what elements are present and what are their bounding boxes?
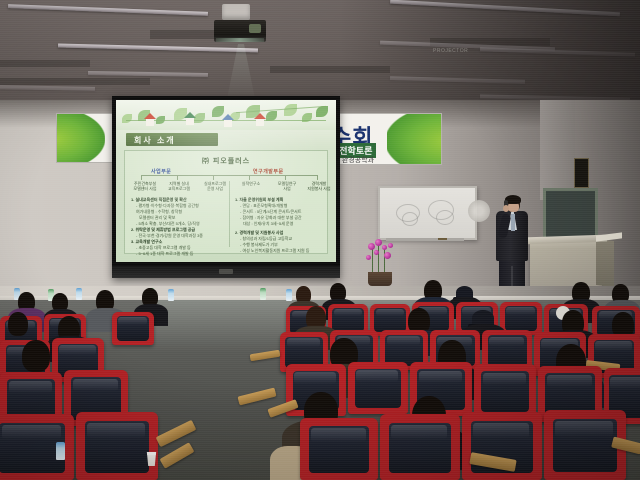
- projector-lens-icon: [249, 24, 261, 33]
- whiteboard-marker: [438, 238, 447, 240]
- slide-left-column: 1. 실내교육센터 직접운영 및 확산 - 평가형·이수형·다과정·복합형 공간…: [131, 197, 227, 257]
- orchid-pot: [368, 272, 392, 286]
- water-bottle: [56, 442, 65, 460]
- slide-body: ㈜ 피오플러스 사업부문 연구개발부문 주민건축부설모델센터 사업 지역별 실내…: [124, 150, 328, 254]
- org-node: 경력개발지원봉사 사업: [297, 181, 336, 192]
- water-bottle: [76, 288, 82, 300]
- whiteboard: [378, 186, 477, 240]
- presentation-slide: 회사 소개 ㈜ 피오플러스 사업부문 연구개발부문 주민건축부설모델센터 사업 …: [116, 100, 336, 262]
- orchid-bloom: [366, 255, 371, 260]
- orchid-bloom: [382, 245, 387, 250]
- auditorium-seat: [474, 364, 536, 418]
- auditorium-seat: [300, 418, 378, 480]
- auditorium-seat: [112, 312, 154, 345]
- slide-company-name: ㈜ 피오플러스: [125, 156, 327, 166]
- orchid-bloom: [368, 243, 375, 250]
- projector-bracket: [222, 4, 250, 20]
- presenter-tie: [511, 214, 515, 231]
- audience-head: [8, 312, 28, 336]
- podium: [530, 240, 602, 288]
- projection-screen: 회사 소개 ㈜ 피오플러스 사업부문 연구개발부문 주민건축부설모델센터 사업 …: [112, 96, 340, 278]
- water-bottle: [260, 288, 266, 300]
- orchid-bloom: [374, 250, 379, 255]
- projector-glow: [216, 38, 264, 42]
- whiteboard-tray: [386, 238, 464, 241]
- ceiling-panel: [0, 60, 90, 67]
- screen-surface: 회사 소개 ㈜ 피오플러스 사업부문 연구개발부문 주민건축부설모델센터 사업 …: [116, 100, 336, 262]
- auditorium-seat: [76, 412, 158, 480]
- auditorium-seat: [348, 362, 408, 414]
- screen-pull-knob: [219, 269, 233, 274]
- slide-right-column: 1. 자율 운영위원회 부설 계획 - 면담 : 표준모형확대/개발형 - 콘서…: [235, 197, 327, 254]
- screen-bottom-bar: [112, 266, 340, 278]
- slide-title-text: 회사 소개: [134, 135, 176, 146]
- wall-speaker: [574, 158, 589, 188]
- slide-title-bar: 회사 소개: [126, 133, 218, 146]
- orchid-bloom: [388, 243, 393, 248]
- ceiling-panel: [0, 78, 150, 85]
- water-bottle: [286, 289, 292, 301]
- orchid-bloom: [375, 239, 382, 246]
- wall-fan: [468, 200, 490, 222]
- banner-chevron-icon: [56, 113, 105, 163]
- auditorium-photo: PROJECTOR 200 우수취업 일시 2009. 수회 강전학토론 학교 …: [0, 0, 640, 480]
- auditorium-seat: [380, 414, 460, 480]
- orchid-bloom: [384, 252, 391, 259]
- org-heading-right: 연구개발부문: [253, 168, 284, 175]
- banner-chevron-icon: [387, 113, 442, 165]
- presenter-hand: [503, 205, 509, 212]
- slide-header-illustration: [116, 100, 336, 130]
- podium-side: [596, 239, 614, 287]
- water-bottle: [168, 289, 174, 301]
- audience-head: [22, 340, 50, 372]
- org-heading-left: 사업부문: [151, 168, 171, 175]
- projector-label: PROJECTOR: [433, 48, 468, 54]
